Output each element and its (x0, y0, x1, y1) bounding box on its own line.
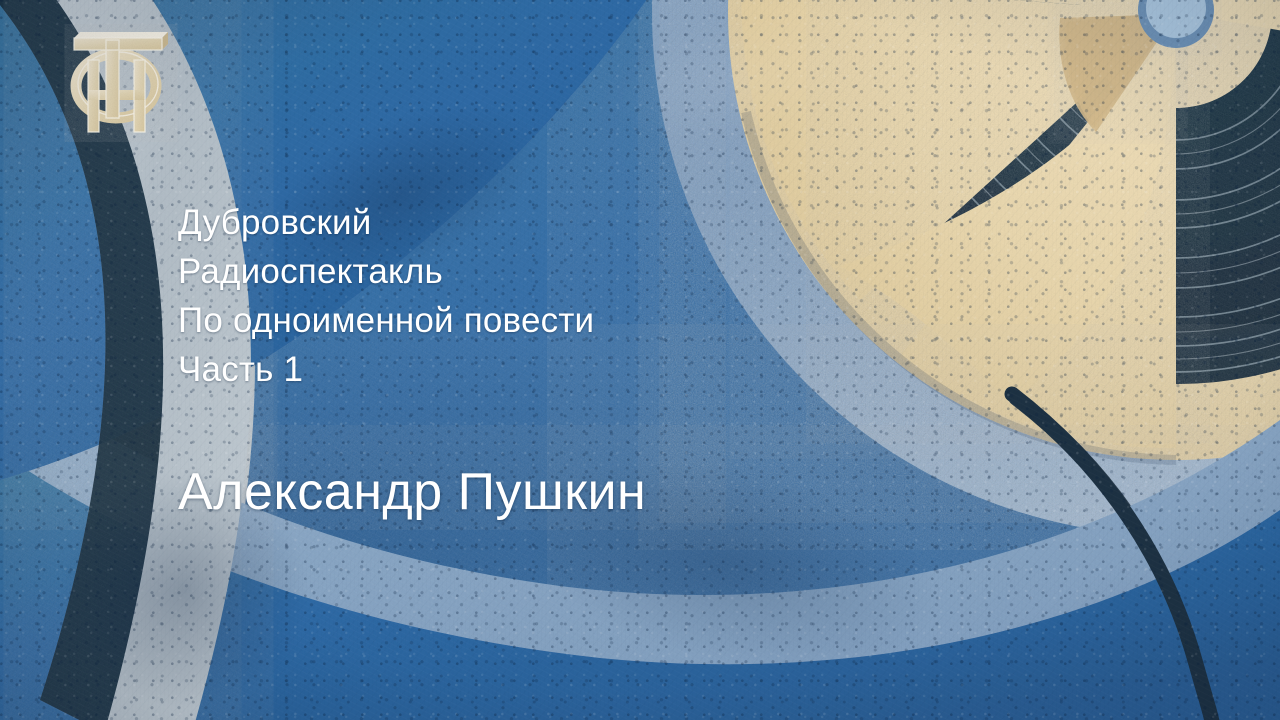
logo-letter-t-stem (106, 40, 119, 118)
title-block: Дубровский Радиоспектакль По одноименной… (178, 198, 898, 394)
title-line-work: Дубровский (178, 198, 898, 247)
logo-letter-t-bar-top (74, 32, 168, 38)
gosteleradiofond-monogram-logo (58, 24, 178, 146)
title-line-source: По одноименной повести (178, 296, 898, 345)
author-name: Александр Пушкин (178, 462, 646, 522)
title-line-format: Радиоспектакль (178, 247, 898, 296)
title-line-part: Часть 1 (178, 345, 898, 394)
cover-art-canvas: Дубровский Радиоспектакль По одноименной… (0, 0, 1280, 720)
